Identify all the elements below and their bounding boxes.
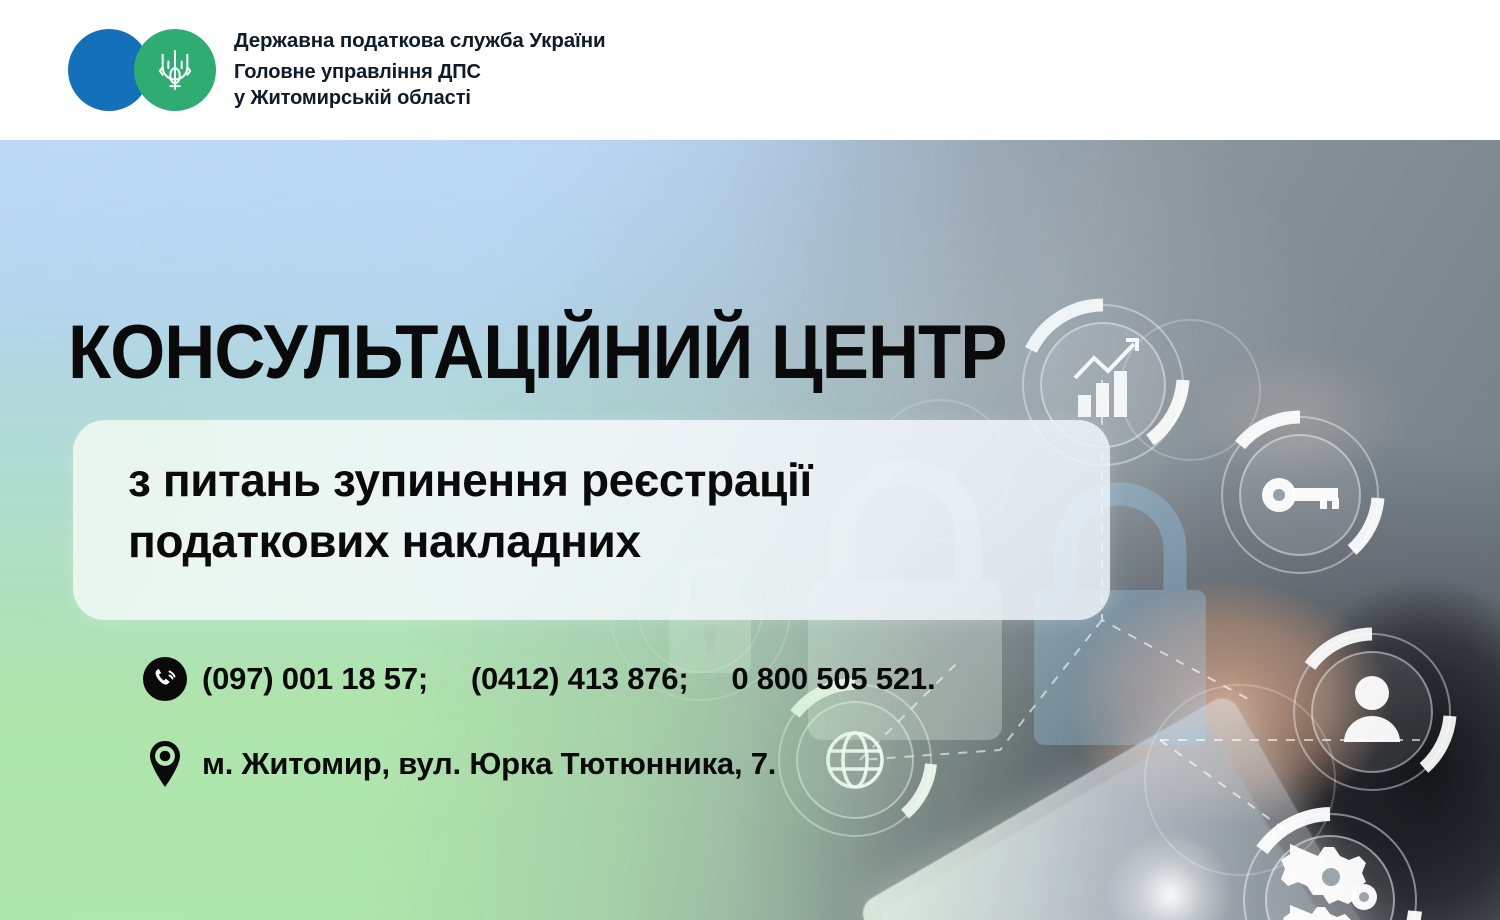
org-name: Державна податкова служба України Головн… (234, 28, 606, 112)
contact-row-phone: (097) 001 18 57; (0412) 413 876; 0 800 5… (142, 656, 935, 702)
phone-numbers: (097) 001 18 57; (0412) 413 876; 0 800 5… (202, 661, 935, 697)
phone-number-2: (0412) 413 876; (471, 661, 689, 696)
org-line-2: Головне управління ДПС (234, 59, 606, 86)
contact-row-address: м. Житомир, вул. Юрка Тютюнника, 7. (142, 738, 776, 790)
trident-icon (156, 47, 194, 93)
banner-content: КОНСУЛЬТАЦІЙНИЙ ЦЕНТР з питань зупинення… (0, 140, 1500, 920)
subtitle-line-2: податкових накладних (128, 511, 1088, 572)
logo (68, 29, 216, 111)
map-pin-icon (142, 738, 188, 790)
phone-number-3: 0 800 505 521. (731, 661, 935, 696)
page-title: КОНСУЛЬТАЦІЙНИЙ ЦЕНТР (68, 315, 1007, 391)
subtitle-text: з питань зупинення реєстрації податкових… (128, 450, 1088, 572)
header-bar: Державна податкова служба України Головн… (0, 0, 1500, 140)
phone-number-1: (097) 001 18 57; (202, 661, 428, 696)
phone-call-icon (142, 656, 188, 702)
subtitle-line-1: з питань зупинення реєстрації (128, 454, 812, 506)
address-text: м. Житомир, вул. Юрка Тютюнника, 7. (202, 746, 776, 782)
org-line-3: у Житомирській області (234, 85, 606, 112)
org-line-1: Державна податкова служба України (234, 28, 606, 54)
logo-circle-green (134, 29, 216, 111)
poster-banner: КОНСУЛЬТАЦІЙНИЙ ЦЕНТР з питань зупинення… (0, 0, 1500, 920)
